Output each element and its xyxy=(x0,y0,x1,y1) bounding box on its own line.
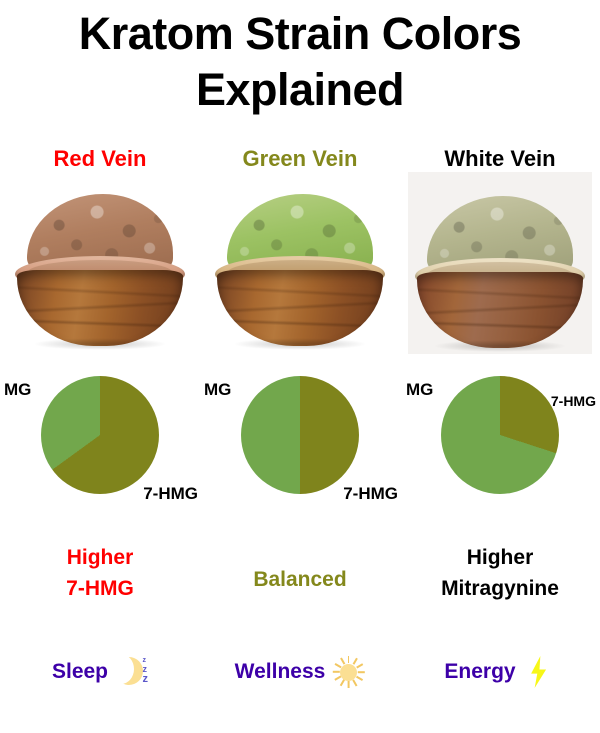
bowl-body-icon xyxy=(417,272,583,348)
column-green-vein: Green Vein MG 7-HMG Balanced Wellness xyxy=(200,0,400,733)
effect-label-sleep: Sleep xyxy=(52,660,108,684)
bowl-shadow xyxy=(433,340,567,352)
heading-white-vein: White Vein xyxy=(400,146,600,172)
pie-label-hmg-red: 7-HMG xyxy=(143,484,198,504)
bowl-image-green-vein xyxy=(208,180,392,352)
description-line-1: Balanced xyxy=(200,564,400,595)
effect-white-vein: Energy xyxy=(400,655,600,689)
pie-label-mg-red: MG xyxy=(4,380,31,400)
pie-slice-group-white xyxy=(441,376,559,494)
heading-red-vein: Red Vein xyxy=(0,146,200,172)
pie-chart-white-vein: MG 7-HMG xyxy=(400,368,600,518)
bowl-shadow xyxy=(33,338,167,350)
description-green-vein: Balanced xyxy=(200,564,400,595)
pie-slice-group-red xyxy=(41,376,159,494)
pie-slice-group-green xyxy=(241,376,359,494)
bowl-image-red-vein xyxy=(8,180,192,352)
effect-label-energy: Energy xyxy=(444,660,515,684)
description-line-1: Higher xyxy=(0,542,200,573)
pie-label-mg-green: MG xyxy=(204,380,231,400)
description-line-2: Mitragynine xyxy=(400,573,600,604)
bowl-shadow xyxy=(233,338,367,350)
column-red-vein: Red Vein MG 7-HMG Higher 7-HMG Sleep z z… xyxy=(0,0,200,733)
bowl-body-icon xyxy=(17,270,183,346)
sun-icon xyxy=(331,655,365,689)
pie-label-hmg-green: 7-HMG xyxy=(343,484,398,504)
lightning-bolt-icon xyxy=(522,655,556,689)
crescent-moon-icon: z z z xyxy=(114,655,148,689)
heading-green-vein: Green Vein xyxy=(200,146,400,172)
effect-green-vein: Wellness xyxy=(200,655,400,689)
effect-label-wellness: Wellness xyxy=(235,660,326,684)
description-white-vein: Higher Mitragynine xyxy=(400,542,600,604)
pie-chart-green-vein: MG 7-HMG xyxy=(200,368,400,518)
bowl-image-white-vein xyxy=(408,172,592,354)
pie-label-mg-white: MG xyxy=(406,380,433,400)
description-line-2: 7-HMG xyxy=(0,573,200,604)
column-white-vein: White Vein MG 7-HMG Higher Mitragynine E… xyxy=(400,0,600,733)
infographic-root: { "title": { "line1": "Kratom Strain Col… xyxy=(0,0,600,733)
pie-label-hmg-white: 7-HMG xyxy=(551,393,596,409)
effect-red-vein: Sleep z z z xyxy=(0,655,200,689)
pie-chart-red-vein: MG 7-HMG xyxy=(0,368,200,518)
description-line-1: Higher xyxy=(400,542,600,573)
bowl-body-icon xyxy=(217,270,383,346)
description-red-vein: Higher 7-HMG xyxy=(0,542,200,604)
